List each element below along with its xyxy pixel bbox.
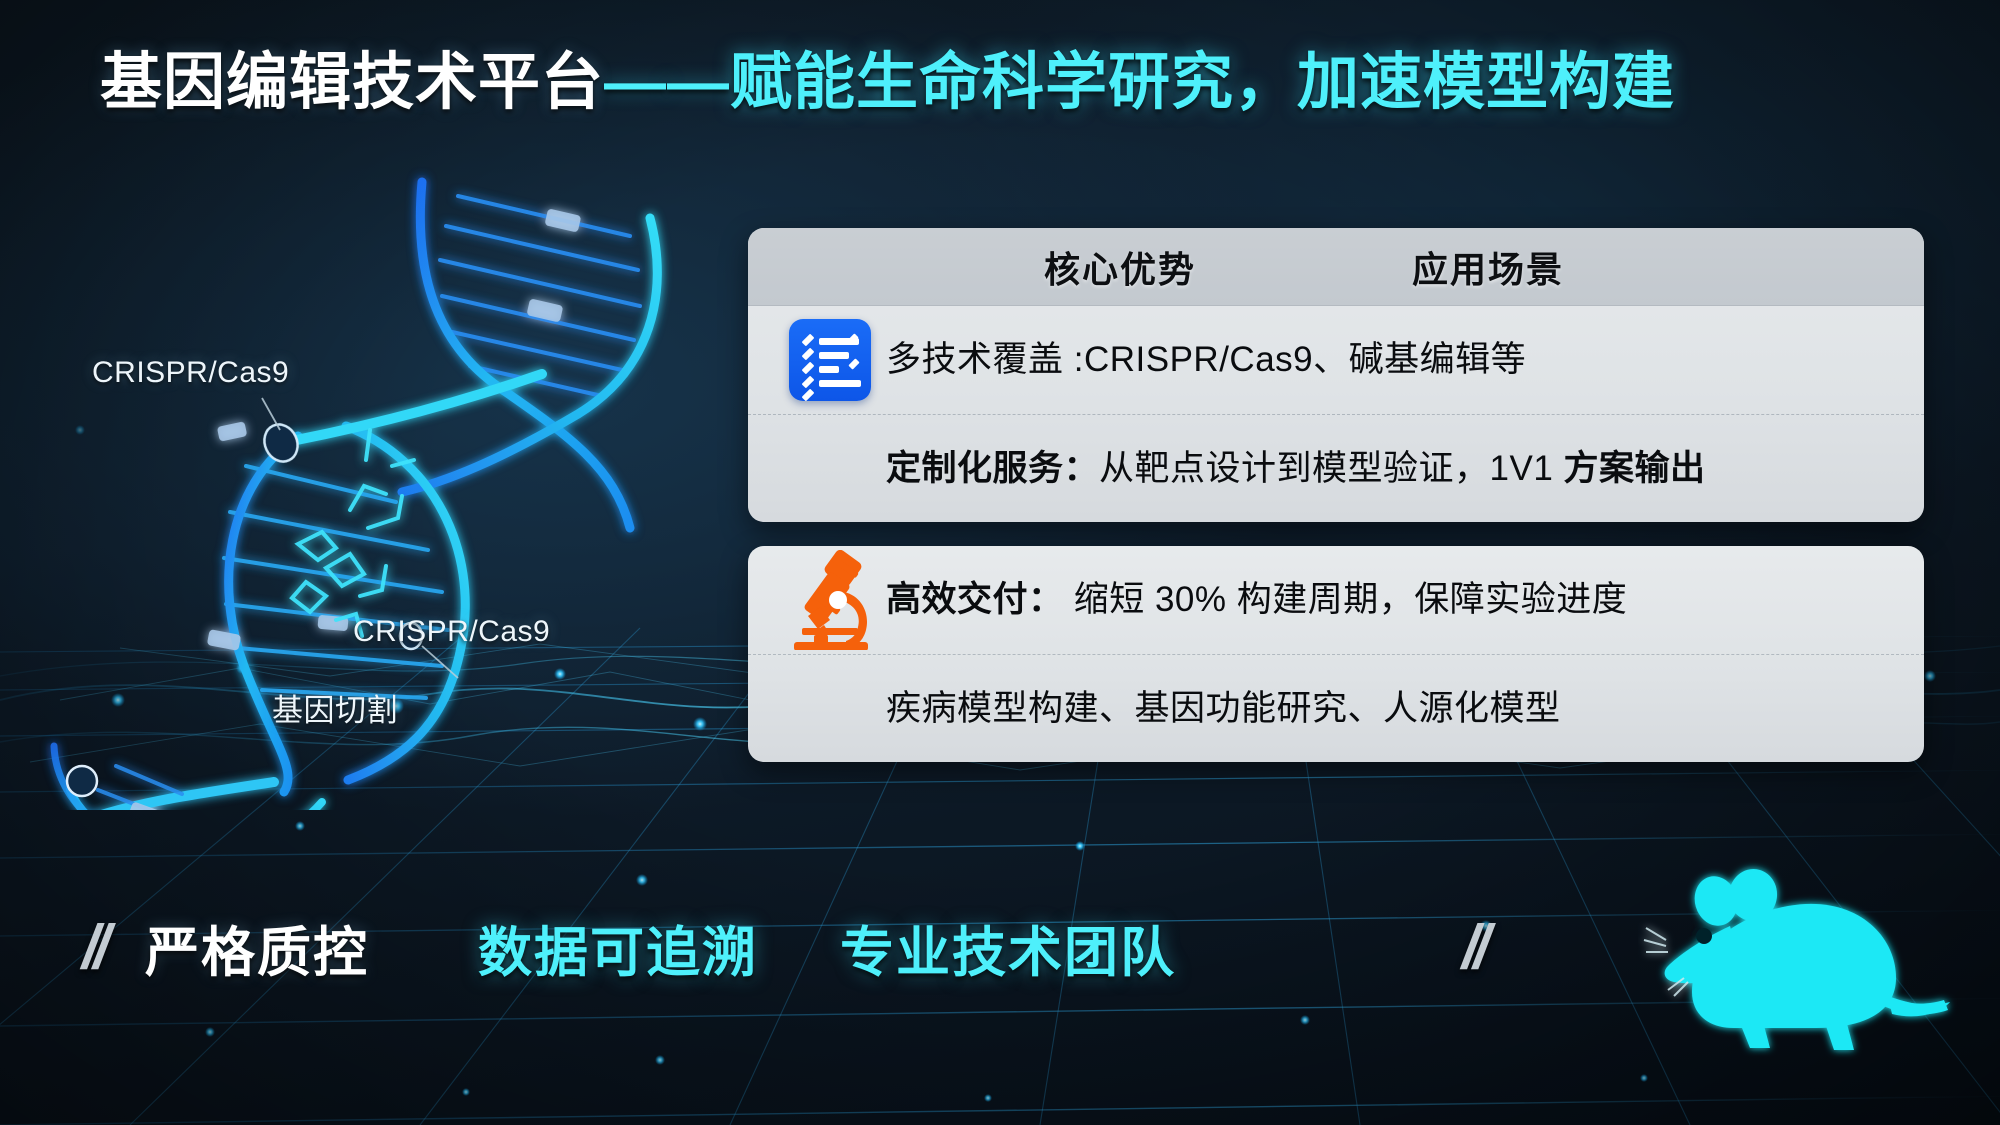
- advantage-card[interactable]: 核心优势 应用场景: [748, 228, 1924, 522]
- header-application-scenario: 应用场景: [1412, 241, 1564, 293]
- footer-tag-quality: 严格质控: [145, 908, 369, 987]
- scenario-card[interactable]: 高效交付： 缩短 30% 构建周期，保障实验进度 疾病模型构建、基因功能研究、人…: [748, 546, 1924, 762]
- row-text: 多技术覆盖 :CRISPR/Cas9、碱基编辑等: [886, 337, 1526, 383]
- content-panel: 核心优势 应用场景: [748, 228, 1924, 762]
- dna-illustration: CRISPR/Cas9 CRISPR/Cas9 基因切割: [30, 130, 690, 810]
- row-body: 缩短 30% 构建周期，保障实验进度: [1064, 580, 1628, 619]
- card-row: 疾病模型构建、基因功能研究、人源化模型: [748, 654, 1924, 762]
- list-document-icon: [789, 319, 871, 401]
- icon-slot: [774, 319, 886, 401]
- microscope-icon: [784, 550, 876, 650]
- title-primary: 基因编辑技术平台: [100, 48, 604, 117]
- slide-title: 基因编辑技术平台——赋能生命科学研究，加速模型构建: [100, 44, 1675, 122]
- header-core-advantage: 核心优势: [1044, 241, 1196, 293]
- card-row: 定制化服务：从靶点设计到模型验证，1V1 方案输出: [748, 414, 1924, 522]
- card-row: 高效交付： 缩短 30% 构建周期，保障实验进度: [748, 546, 1924, 654]
- icon-slot: [774, 550, 886, 650]
- lab-mouse-icon: [1638, 848, 1968, 1078]
- row-text: 疾病模型构建、基因功能研究、人源化模型: [886, 686, 1561, 732]
- row-text: 高效交付： 缩短 30% 构建周期，保障实验进度: [886, 577, 1627, 623]
- title-accent: ——赋能生命科学研究，加速模型构建: [604, 48, 1675, 117]
- footer-tag-team: 专业技术团队: [840, 908, 1176, 987]
- footer-tag-traceability: 数据可追溯: [478, 908, 758, 987]
- card-row: 多技术覆盖 :CRISPR/Cas9、碱基编辑等: [748, 306, 1924, 414]
- row-label: 高效交付：: [886, 580, 1064, 619]
- slash-left-icon: //: [82, 912, 104, 983]
- row-body: 从靶点设计到模型验证，1V1: [1099, 449, 1564, 488]
- row-text: 定制化服务：从靶点设计到模型验证，1V1 方案输出: [886, 446, 1706, 492]
- row-tail: 方案输出: [1564, 449, 1706, 488]
- dna-label-crispr-top: CRISPR/Cas9: [92, 356, 289, 390]
- slide-canvas: 基因编辑技术平台——赋能生命科学研究，加速模型构建: [0, 0, 2000, 1125]
- card-body: 多技术覆盖 :CRISPR/Cas9、碱基编辑等 定制化服务：从靶点设计到模型验…: [748, 306, 1924, 522]
- dna-label-crispr-mid: CRISPR/Cas9: [353, 615, 550, 649]
- card-header: 核心优势 应用场景: [748, 228, 1924, 306]
- row-label: 定制化服务：: [886, 449, 1099, 488]
- slash-right-icon: //: [1462, 912, 1484, 983]
- card-body: 高效交付： 缩短 30% 构建周期，保障实验进度 疾病模型构建、基因功能研究、人…: [748, 546, 1924, 762]
- dna-label-gene-cut: 基因切割: [272, 685, 398, 730]
